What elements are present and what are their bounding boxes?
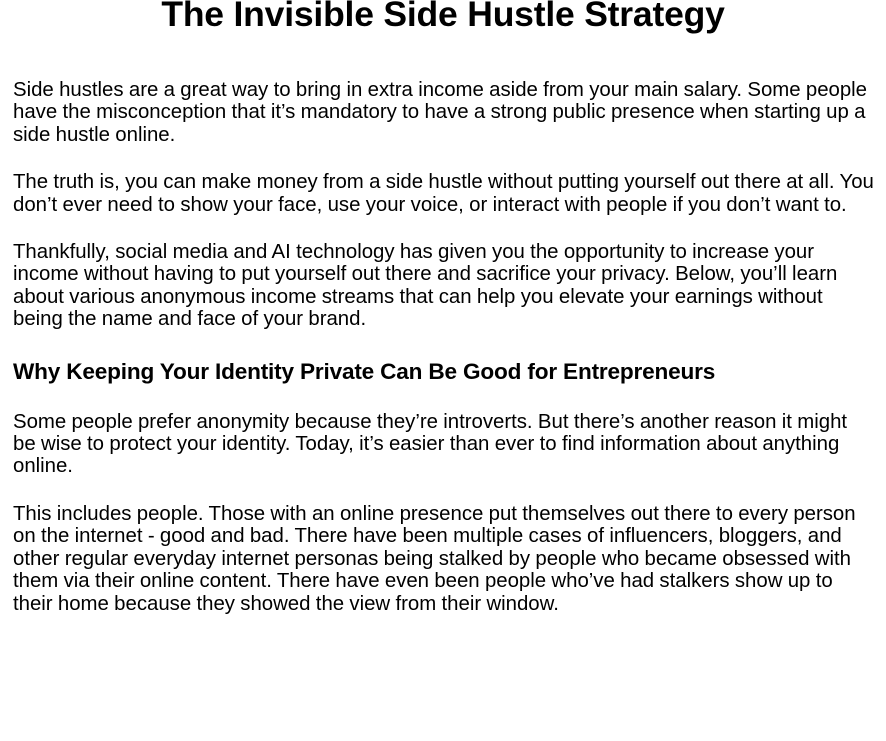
body-paragraph-2: The truth is, you can make money from a … xyxy=(13,171,875,216)
section-heading-identity-private: Why Keeping Your Identity Private Can Be… xyxy=(13,356,875,385)
document-page: The Invisible Side Hustle Strategy Side … xyxy=(0,0,886,741)
page-title: The Invisible Side Hustle Strategy xyxy=(0,0,886,35)
body-paragraph-3: Thankfully, social media and AI technolo… xyxy=(13,241,875,331)
body-paragraph-5: This includes people. Those with an onli… xyxy=(13,503,875,615)
article-body: Side hustles are a great way to bring in… xyxy=(13,79,875,615)
body-paragraph-4: Some people prefer anonymity because the… xyxy=(13,411,875,478)
body-paragraph-1: Side hustles are a great way to bring in… xyxy=(13,79,875,146)
heading-spacer xyxy=(13,385,875,411)
